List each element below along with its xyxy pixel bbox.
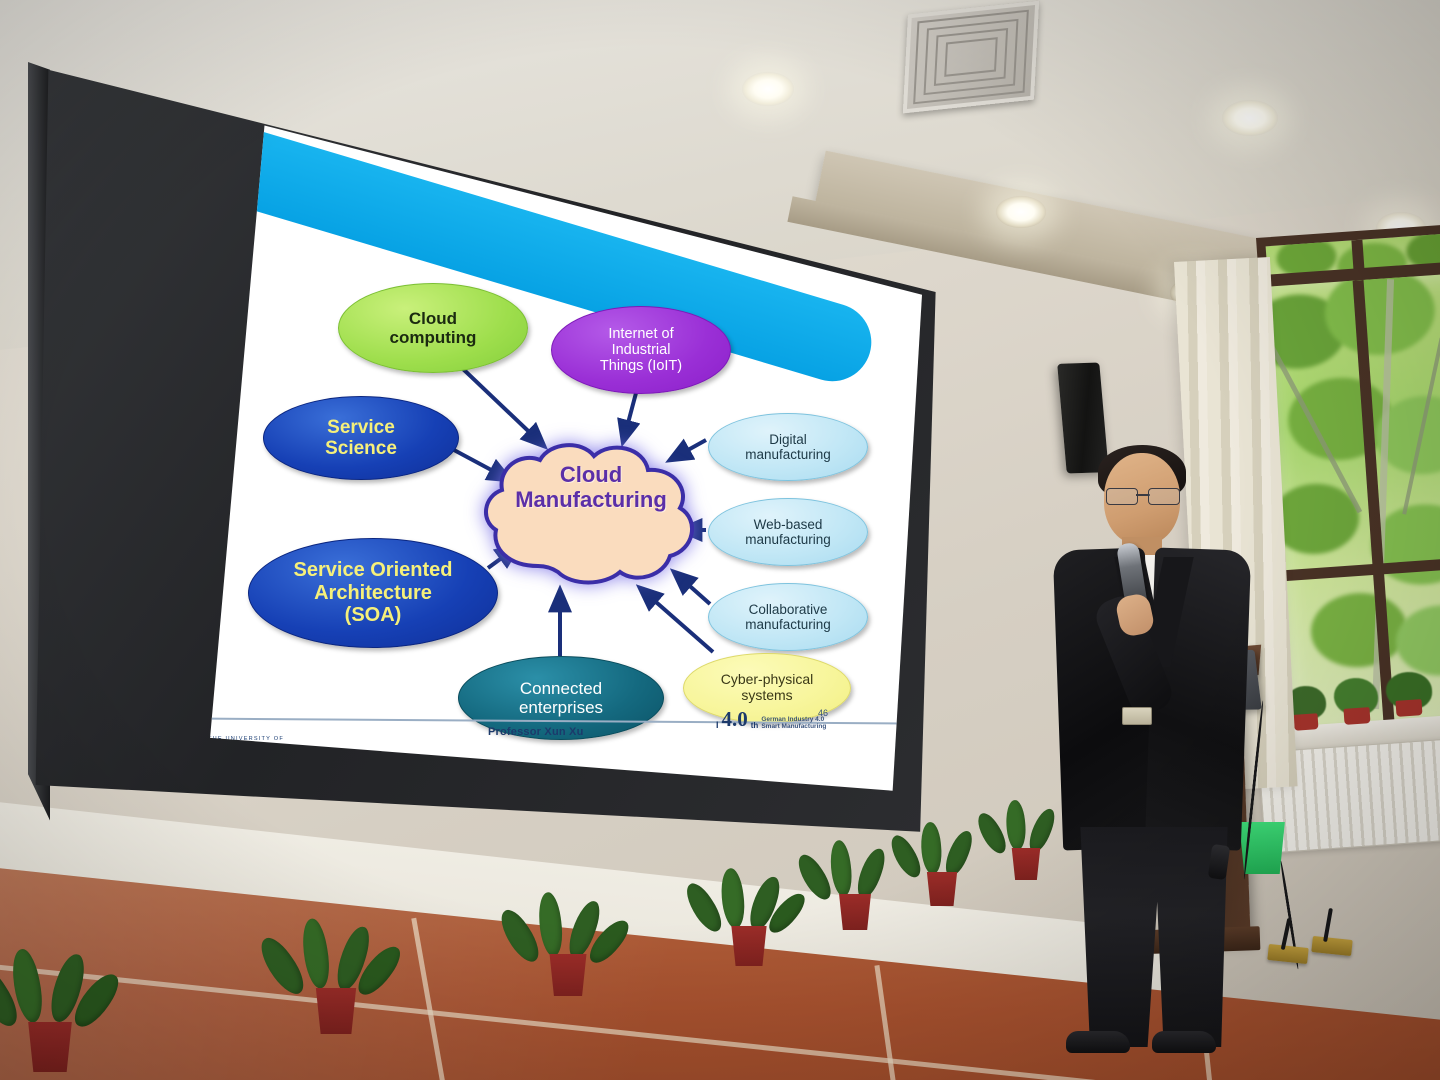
node-cloud-computing[interactable]: Cloud computing: [338, 283, 528, 373]
presenter-shoe: [1066, 1031, 1130, 1053]
name-badge: [1122, 707, 1152, 725]
node-web-based-manufacturing[interactable]: Web-based manufacturing: [708, 498, 868, 566]
industry-40-number: 4.0: [722, 708, 748, 731]
slide-page-number: 46: [818, 708, 828, 718]
ceiling-downlight: [742, 72, 794, 106]
industry-40-mark: I 4.0 th German Industry 4.0 Smart Manuf…: [716, 708, 826, 731]
ceiling-downlight: [1222, 100, 1278, 136]
cloud-center-label: Cloud Manufacturing: [478, 463, 704, 512]
cloud-manufacturing-shape: [478, 438, 704, 588]
industry-40-superscript: th: [751, 722, 759, 731]
node-service-science[interactable]: Service Science: [263, 396, 459, 480]
industry-40-caption-2: Smart Manufacturing: [761, 724, 826, 731]
presenter-shoe: [1152, 1031, 1216, 1053]
industry-40-prefix: I: [716, 721, 719, 731]
presentation-photo: Cloud Manufacturing Cloud computing Inte…: [0, 0, 1440, 1080]
slide-author: Professor Xun Xu: [488, 726, 584, 738]
air-vent-icon: [903, 1, 1039, 114]
ceiling-downlight: [996, 196, 1046, 228]
glasses-icon: [1106, 488, 1180, 503]
presenter: [1040, 445, 1270, 1045]
node-service-oriented-architecture[interactable]: Service Oriented Architecture (SOA): [248, 538, 498, 648]
node-digital-manufacturing[interactable]: Digital manufacturing: [708, 413, 868, 481]
node-collaborative-manufacturing[interactable]: Collaborative manufacturing: [708, 583, 868, 651]
presentation-clicker: [1208, 844, 1231, 880]
node-internet-of-industrial-things[interactable]: Internet of Industrial Things (IoIT): [551, 306, 731, 394]
